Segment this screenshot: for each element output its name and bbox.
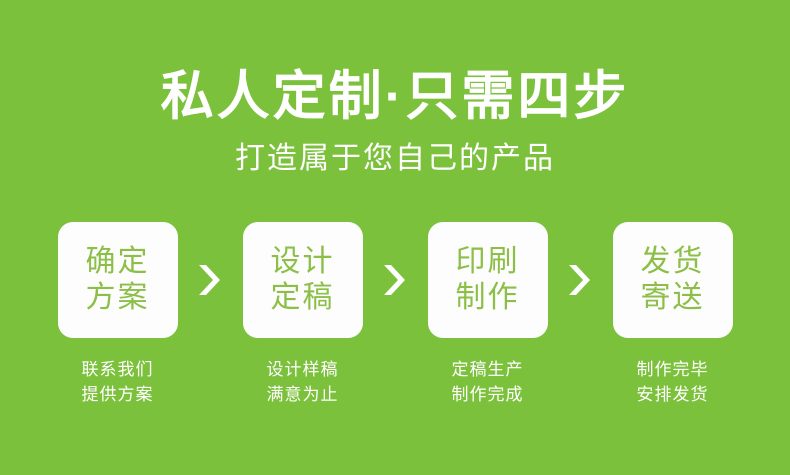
step-card-2: 设计 定稿	[243, 222, 363, 338]
page-subtitle: 打造属于您自己的产品	[0, 128, 790, 178]
step-caption-3: 定稿生产 制作完成	[452, 357, 524, 407]
step-caption-1-line-1: 联系我们	[82, 357, 154, 382]
page-title: 私人定制·只需四步	[0, 0, 790, 128]
chevron-right-icon	[363, 222, 428, 338]
chevron-right-icon	[178, 222, 243, 338]
step-caption-1-line-2: 提供方案	[82, 382, 154, 407]
step-caption-4: 制作完毕 安排发货	[637, 357, 709, 407]
promo-banner: 私人定制·只需四步 打造属于您自己的产品 确定 方案 联系我们 提供方案 设计	[0, 0, 790, 475]
step-item-1: 确定 方案 联系我们 提供方案	[58, 222, 178, 407]
step-caption-2: 设计样稿 满意为止	[267, 357, 339, 407]
step-caption-4-line-2: 安排发货	[637, 382, 709, 407]
step-caption-4-line-1: 制作完毕	[637, 357, 709, 382]
step-caption-3-line-1: 定稿生产	[452, 357, 524, 382]
step-card-3-line-2: 制作	[456, 280, 520, 316]
step-card-1: 确定 方案	[58, 222, 178, 338]
step-caption-2-line-2: 满意为止	[267, 382, 339, 407]
chevron-right-icon	[548, 222, 613, 338]
step-card-4-line-2: 寄送	[641, 280, 705, 316]
step-caption-2-line-1: 设计样稿	[267, 357, 339, 382]
step-card-4: 发货 寄送	[613, 222, 733, 338]
step-item-3: 印刷 制作 定稿生产 制作完成	[428, 222, 548, 407]
step-card-3-line-1: 印刷	[456, 244, 520, 280]
step-card-2-line-1: 设计	[271, 244, 335, 280]
step-card-2-line-2: 定稿	[271, 280, 335, 316]
step-card-1-line-1: 确定	[86, 244, 150, 280]
banner-header: 私人定制·只需四步 打造属于您自己的产品	[0, 0, 790, 178]
step-card-1-line-2: 方案	[86, 280, 150, 316]
step-caption-1: 联系我们 提供方案	[82, 357, 154, 407]
step-item-4: 发货 寄送 制作完毕 安排发货	[613, 222, 733, 407]
steps-row: 确定 方案 联系我们 提供方案 设计 定稿 设计样稿 满意为止	[0, 222, 790, 422]
step-item-2: 设计 定稿 设计样稿 满意为止	[243, 222, 363, 407]
step-card-3: 印刷 制作	[428, 222, 548, 338]
step-caption-3-line-2: 制作完成	[452, 382, 524, 407]
step-card-4-line-1: 发货	[641, 244, 705, 280]
